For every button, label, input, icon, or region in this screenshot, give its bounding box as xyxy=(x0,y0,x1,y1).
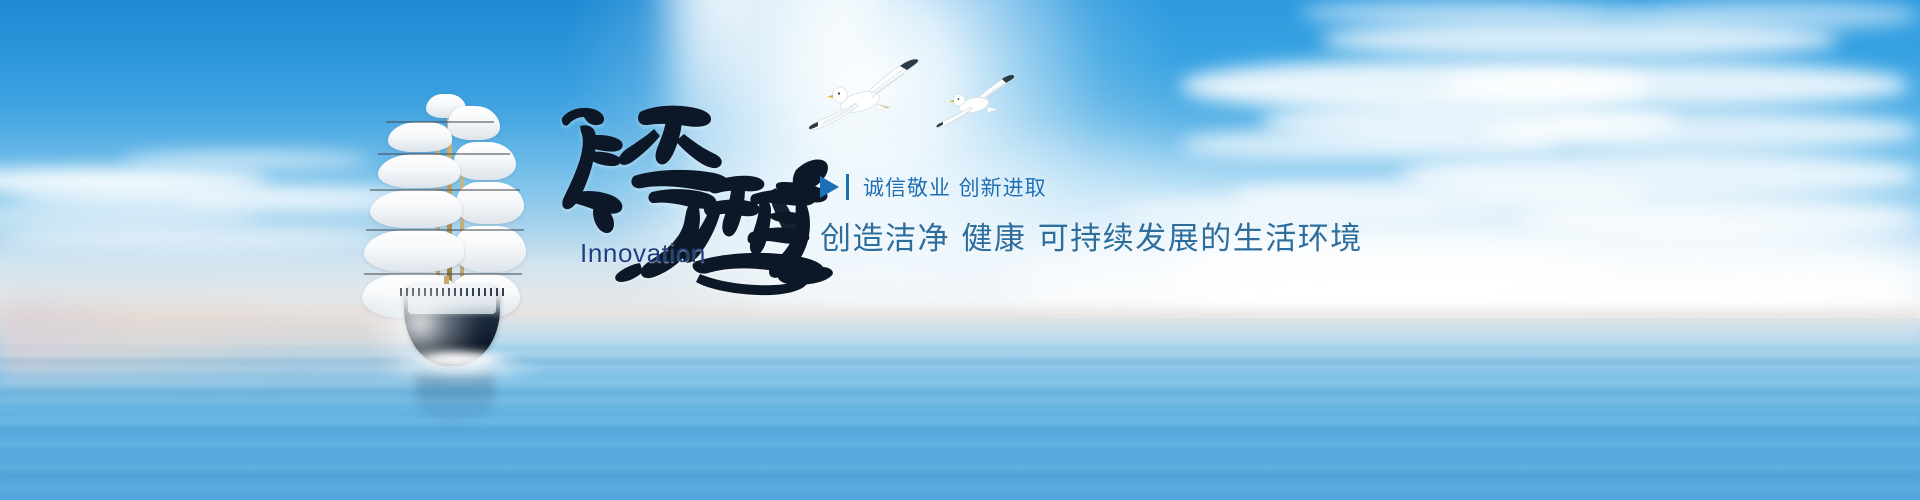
water-ripple xyxy=(0,360,1920,363)
water-ripple xyxy=(0,340,1920,343)
play-triangle-icon xyxy=(820,176,839,198)
ship-yard xyxy=(378,153,510,155)
water-ripple xyxy=(0,390,1920,394)
water-ripple xyxy=(0,441,1920,446)
slogan-row-primary: 诚信敬业 创新进取 xyxy=(820,172,1280,202)
water-ripple xyxy=(0,366,1920,369)
brand-subtitle-en: Innovation xyxy=(580,238,706,269)
ship-sail xyxy=(378,154,460,188)
water-ripple xyxy=(0,418,1920,424)
hero-banner: Innovation 诚信敬业 创新进取 创造洁净 健康 可持续发展的生活环境 xyxy=(0,0,1920,500)
water-ripple xyxy=(0,464,1920,471)
ship-sail xyxy=(364,230,464,272)
vertical-bar-icon xyxy=(846,174,849,200)
seagull-small-icon xyxy=(934,68,1024,130)
slogan-block: 诚信敬业 创新进取 创造洁净 健康 可持续发展的生活环境 xyxy=(820,172,1280,258)
ship-sail xyxy=(370,190,462,228)
cloud-left xyxy=(0,225,380,251)
ship-sail xyxy=(454,226,526,272)
water-ripple xyxy=(0,352,1920,356)
sun-flare xyxy=(360,268,480,378)
water-ripple xyxy=(0,399,1920,403)
ship-yard xyxy=(386,121,494,123)
ship-sail xyxy=(448,106,500,140)
calligraphy-logo xyxy=(548,96,838,301)
ship-sail xyxy=(454,142,516,180)
water-ripple xyxy=(0,472,1920,478)
cloud-left xyxy=(120,152,370,168)
cloud-right xyxy=(1320,20,1840,60)
slogan-line-1: 诚信敬业 创新进取 xyxy=(863,172,1047,202)
tall-ship xyxy=(370,88,530,378)
water-ripple xyxy=(0,486,1920,492)
ship-yard xyxy=(366,229,524,231)
water-ripple xyxy=(0,428,1920,433)
ship-sail xyxy=(388,122,452,152)
water-ripple xyxy=(0,381,1920,386)
ship-yard xyxy=(370,189,520,191)
slogan-line-2: 创造洁净 健康 可持续发展的生活环境 xyxy=(820,213,1280,258)
